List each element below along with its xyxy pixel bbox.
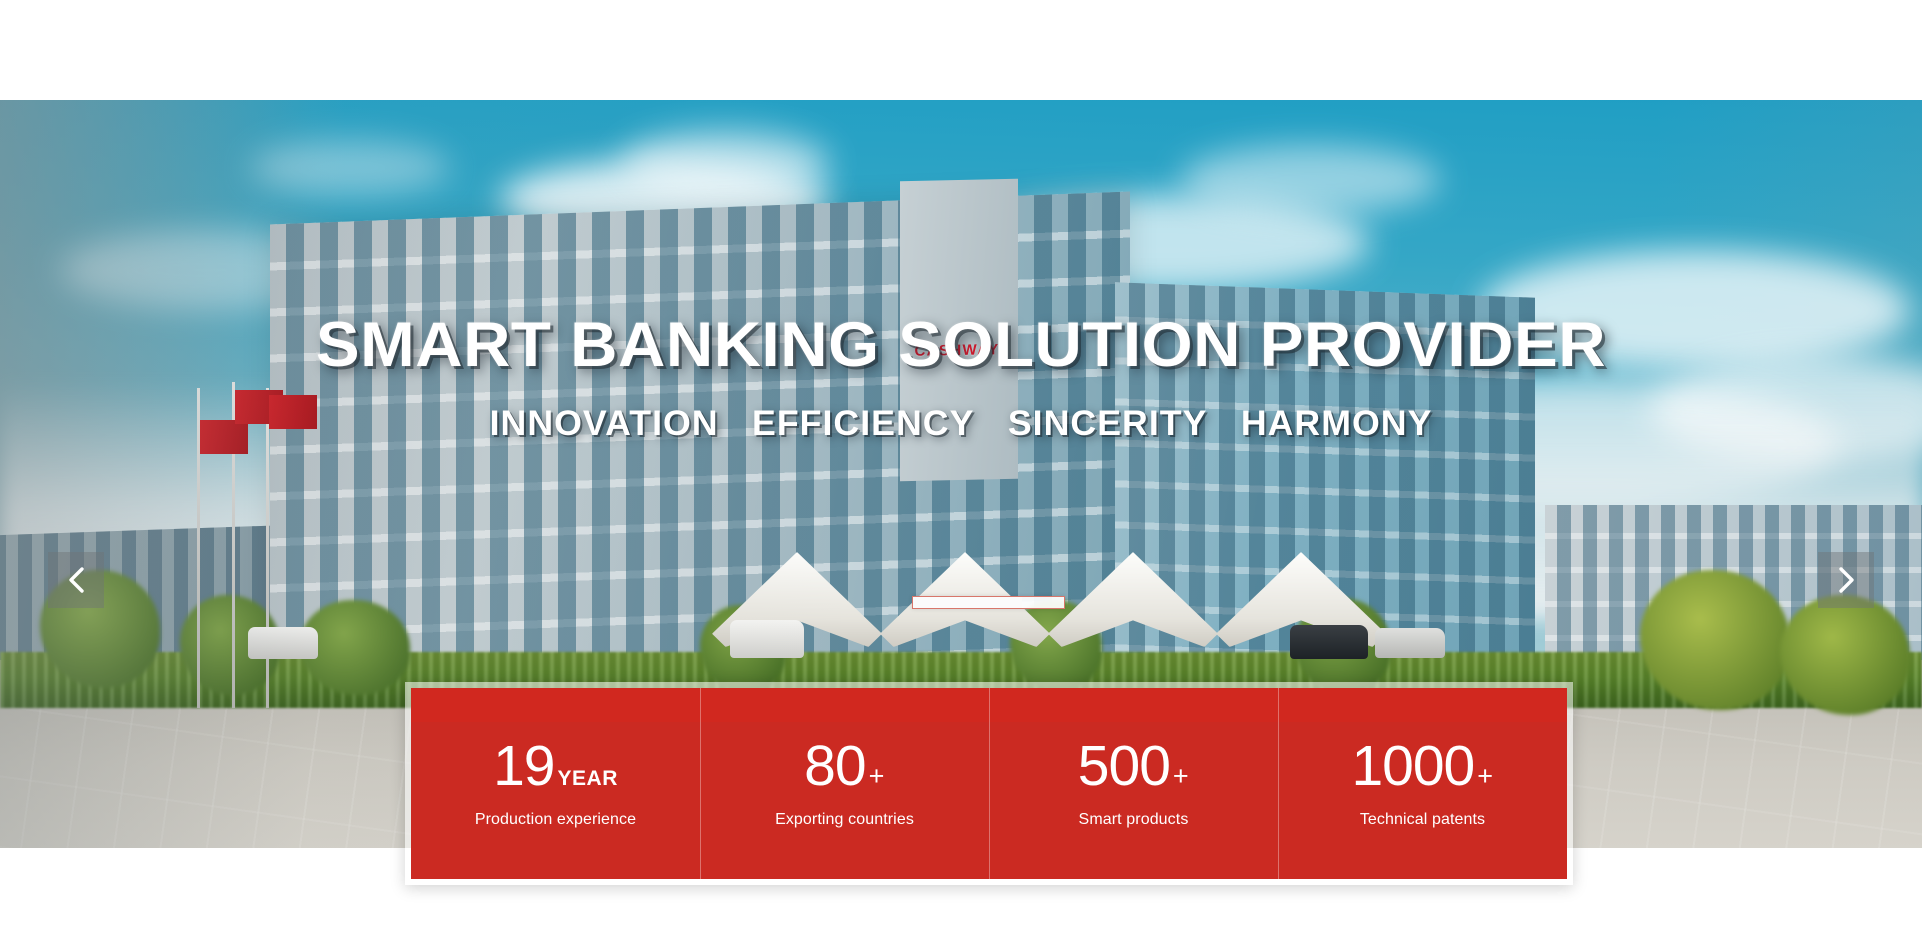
cloud-shape bbox=[620, 130, 830, 196]
vehicle bbox=[730, 620, 804, 658]
hero-copy: SMART BANKING SOLUTION PROVIDER INNOVATI… bbox=[0, 312, 1922, 444]
carousel-prev-button[interactable] bbox=[48, 552, 104, 608]
slide-progress-bar[interactable] bbox=[912, 596, 1065, 609]
stat-number: 80 bbox=[804, 738, 865, 795]
subhead-word-sincerity: SINCERITY bbox=[1008, 404, 1208, 443]
cloud-shape bbox=[250, 140, 450, 195]
stat-figure: 500 + bbox=[1078, 738, 1189, 795]
stat-caption: Technical patents bbox=[1360, 811, 1485, 829]
stats-row: 19 YEAR Production experience 80 + Expor… bbox=[411, 688, 1567, 879]
stat-caption: Exporting countries bbox=[775, 811, 914, 829]
stat-figure: 19 YEAR bbox=[493, 738, 618, 795]
stats-panel: 19 YEAR Production experience 80 + Expor… bbox=[405, 682, 1573, 885]
subhead-word-efficiency: EFFICIENCY bbox=[752, 404, 974, 443]
stat-suffix: + bbox=[869, 763, 885, 790]
slide-progress-fill bbox=[913, 597, 1022, 608]
page-root: CASHWAY bbox=[0, 0, 1922, 950]
hero-headline: SMART BANKING SOLUTION PROVIDER bbox=[0, 312, 1922, 378]
stat-technical-patents: 1000 + Technical patents bbox=[1278, 688, 1567, 879]
stat-number: 1000 bbox=[1351, 738, 1474, 795]
vehicle bbox=[1290, 625, 1368, 659]
carousel-next-button[interactable] bbox=[1818, 552, 1874, 608]
stat-figure: 1000 + bbox=[1351, 738, 1493, 795]
stat-smart-products: 500 + Smart products bbox=[989, 688, 1278, 879]
stat-suffix: + bbox=[1173, 763, 1189, 790]
stat-exporting-countries: 80 + Exporting countries bbox=[700, 688, 989, 879]
hero-subheadline: INNOVATION EFFICIENCY SINCERITY HARMONY bbox=[0, 404, 1922, 444]
top-white-band bbox=[0, 0, 1922, 100]
stat-number: 19 bbox=[493, 738, 554, 795]
stat-caption: Smart products bbox=[1079, 811, 1189, 829]
stat-caption: Production experience bbox=[475, 811, 636, 829]
chevron-right-icon bbox=[1835, 565, 1857, 595]
stat-number: 500 bbox=[1078, 738, 1170, 795]
vehicle bbox=[248, 627, 318, 659]
vehicle bbox=[1375, 628, 1445, 658]
stat-figure: 80 + bbox=[804, 738, 885, 795]
chevron-left-icon bbox=[65, 565, 87, 595]
cloud-shape bbox=[1180, 145, 1440, 215]
stat-suffix: + bbox=[1477, 763, 1493, 790]
stat-suffix: YEAR bbox=[558, 768, 618, 789]
stat-production-experience: 19 YEAR Production experience bbox=[411, 688, 700, 879]
subhead-word-harmony: HARMONY bbox=[1241, 404, 1433, 443]
subhead-word-innovation: INNOVATION bbox=[490, 404, 719, 443]
